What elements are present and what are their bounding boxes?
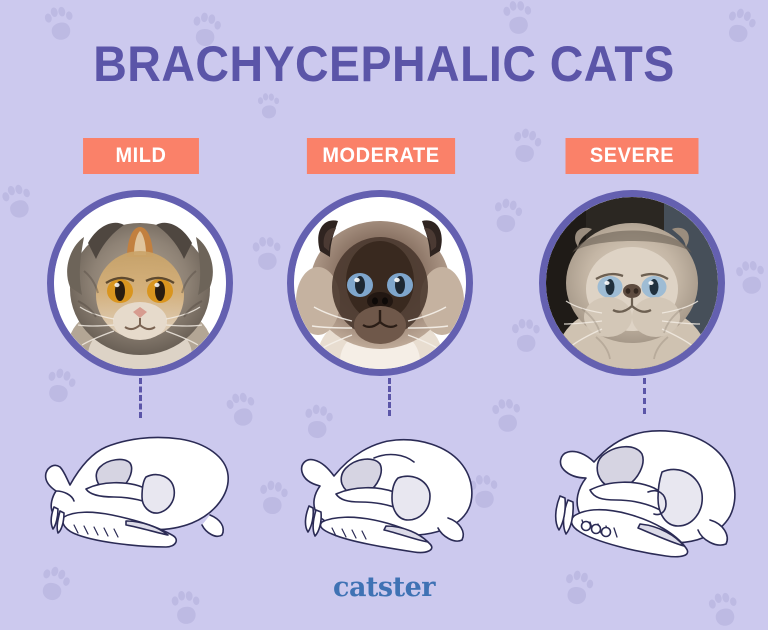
severity-badge-severe: SEVERE <box>566 138 699 174</box>
cat-photo-severe <box>539 190 725 376</box>
severity-badge-moderate: MODERATE <box>307 138 455 174</box>
cat-photo-severe-image <box>546 197 718 369</box>
cat-photo-moderate-image <box>294 197 466 369</box>
severity-badge-label: MODERATE <box>322 144 439 168</box>
paw-print-watermark <box>498 0 537 40</box>
cat-photo-mild <box>47 190 233 376</box>
severity-badge-mild: MILD <box>83 138 199 174</box>
paw-print-watermark <box>254 91 283 123</box>
connector-line-moderate <box>388 378 391 416</box>
paw-print-watermark <box>505 125 545 168</box>
cat-photo-moderate <box>287 190 473 376</box>
skull-illustration-mild <box>30 415 260 555</box>
paw-print-watermark <box>0 180 39 226</box>
paw-print-watermark <box>507 317 544 357</box>
paw-print-watermark <box>38 365 79 409</box>
paw-print-watermark <box>730 257 768 300</box>
catster-logo[interactable]: catster <box>0 572 768 603</box>
cat-photo-mild-image <box>54 197 226 369</box>
infographic-canvas: BRACHYCEPHALIC CATS MILD MODERATE SEVERE <box>0 0 768 630</box>
paw-print-watermark <box>487 196 526 238</box>
severity-badge-label: SEVERE <box>590 144 674 168</box>
page-title: BRACHYCEPHALIC CATS <box>27 38 741 91</box>
skull-illustration-severe <box>524 408 752 560</box>
connector-line-mild <box>139 378 142 418</box>
paw-print-watermark <box>247 234 285 275</box>
severity-badge-label: MILD <box>115 144 166 168</box>
skull-illustration-moderate <box>278 412 500 557</box>
